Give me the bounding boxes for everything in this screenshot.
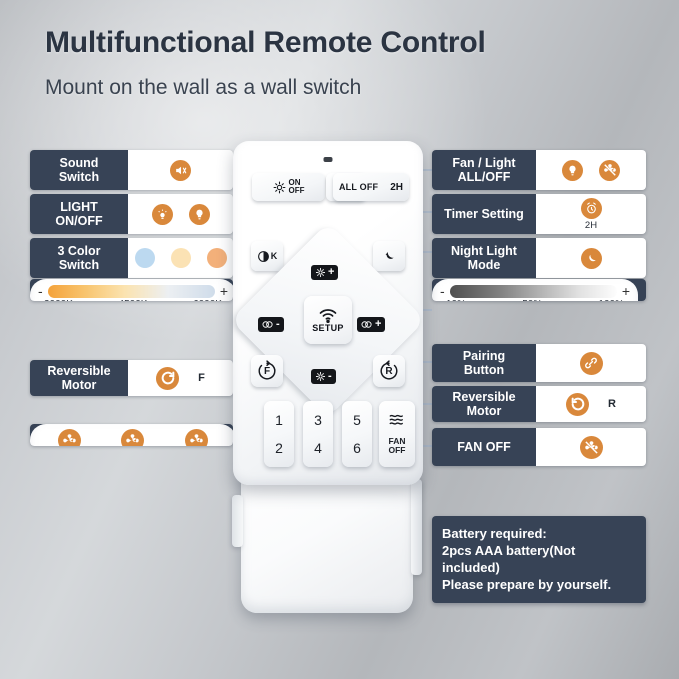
- callout-fan-light-all-off[interactable]: Fan / LightALL/OFF: [432, 150, 646, 190]
- key-color-temp-down[interactable]: -: [258, 317, 284, 332]
- alarm-clock-icon: [581, 198, 602, 219]
- key-glyph: -: [311, 369, 336, 384]
- callout-reversible-motor-forward[interactable]: Reversible Motor F: [30, 360, 233, 396]
- fan-off-icon: [580, 436, 603, 459]
- key-brightness-down[interactable]: -: [311, 369, 336, 384]
- key-label-f: F: [264, 366, 270, 377]
- key-setup[interactable]: SETUP: [304, 296, 352, 344]
- key-label-speed: 1: [275, 412, 283, 428]
- tick-label: 100%: [598, 299, 624, 301]
- callout-reversible-motor-reverse[interactable]: Reversible Motor R: [432, 386, 646, 422]
- plus-sign: +: [220, 284, 228, 298]
- speed-level-low[interactable]: Low: [58, 429, 81, 446]
- tick-label: 3000K: [44, 299, 73, 301]
- key-label-r: R: [385, 366, 392, 377]
- callout-label: LIGHTON/OFF: [30, 194, 128, 234]
- key-label-all-off: ALL OFF: [339, 182, 378, 192]
- callout-label: Fan / LightALL/OFF: [432, 150, 536, 190]
- night-moon-icon: [382, 249, 396, 263]
- key-speed-1-2[interactable]: 1 2: [264, 401, 294, 467]
- key-glyph: ON OFF: [273, 179, 305, 194]
- fan-icon: [121, 429, 144, 446]
- callout-color-temperature[interactable]: Color Temperature Button - + 3000K 4500K…: [30, 279, 233, 301]
- callout-icons: R: [536, 386, 646, 422]
- callout-label: FAN OFF: [432, 428, 536, 466]
- callout-icons: [128, 150, 233, 190]
- fan-icon: [58, 429, 81, 446]
- callout-label: Night LightMode: [432, 238, 536, 278]
- moon-icon: [581, 248, 602, 269]
- bulb-off-icon: [189, 204, 210, 225]
- callout-label: 3 ColorSwitch: [30, 238, 128, 278]
- callout-sound-switch[interactable]: SoundSwitch: [30, 150, 233, 190]
- reverse-rotation-icon: [566, 393, 589, 416]
- infographic-canvas: Multifunctional Remote Control Mount on …: [0, 0, 679, 679]
- callout-icons: [536, 238, 646, 278]
- key-label-setup: SETUP: [312, 323, 344, 333]
- tick-label: 6000K: [193, 299, 222, 301]
- fan-off-icon: [599, 160, 620, 181]
- key-label-speed: 4: [314, 440, 322, 456]
- dimmer-ticks: 10% 50% 100%: [440, 298, 630, 301]
- key-label-plus: +: [328, 267, 334, 278]
- callout-timer-setting[interactable]: Timer Setting 2H: [432, 194, 646, 234]
- tick-label: 10%: [446, 299, 466, 301]
- key-label-speed: 6: [353, 440, 361, 456]
- dimmer-slider[interactable]: - + 10% 50% 100%: [432, 279, 638, 301]
- key-label-minus: -: [276, 319, 280, 330]
- sound-mute-icon: [170, 160, 191, 181]
- callout-label: Reversible Motor: [432, 386, 536, 422]
- ir-emitter-icon: [324, 157, 333, 162]
- remote-control-device: ON OFF ALL OFF 2H K: [233, 141, 423, 613]
- page-title: Multifunctional Remote Control: [45, 26, 486, 60]
- motor-direction-tag: R: [608, 398, 616, 410]
- callout-pairing-button[interactable]: PairingButton: [432, 344, 646, 382]
- callout-color-swatches: [128, 238, 233, 278]
- tick-label: 4500K: [119, 299, 148, 301]
- fan-icon: [185, 429, 208, 446]
- callout-label: SoundSwitch: [30, 150, 128, 190]
- tick-label: 50%: [522, 299, 542, 301]
- callout-icons: 2H: [536, 194, 646, 234]
- key-label-speed: 2: [275, 440, 283, 456]
- color-swatch-neutral: [171, 248, 191, 268]
- callout-icons: [536, 344, 646, 382]
- key-forward-rotation[interactable]: F: [251, 355, 283, 387]
- callout-night-light-mode[interactable]: Night LightMode: [432, 238, 646, 278]
- wave-icon: [388, 413, 406, 425]
- wifi-icon: [318, 308, 338, 323]
- forward-rotation-icon: [156, 367, 179, 390]
- speed-level-med[interactable]: Med: [121, 429, 144, 446]
- color-temp-ticks: 3000K 4500K 6000K: [38, 298, 228, 301]
- key-color-switch[interactable]: K: [251, 241, 283, 271]
- key-speed-3-4[interactable]: 3 4: [303, 401, 333, 467]
- color-temp-slider[interactable]: - + 3000K 4500K 6000K: [30, 279, 233, 301]
- key-label-plus: +: [375, 319, 381, 330]
- callout-fan-off[interactable]: FAN OFF: [432, 428, 646, 466]
- key-speed-5-6[interactable]: 5 6: [342, 401, 372, 467]
- speed-levels: Low Med High: [30, 424, 233, 446]
- bulb-on-icon: [152, 204, 173, 225]
- key-label-off: OFF: [289, 187, 305, 195]
- key-label-k: K: [271, 251, 278, 261]
- callout-3-color-switch[interactable]: 3 ColorSwitch: [30, 238, 233, 278]
- key-glyph: +: [311, 265, 338, 280]
- key-color-temp-up[interactable]: +: [357, 317, 385, 332]
- callout-icons: [536, 428, 646, 466]
- key-label-speed: 3: [314, 412, 322, 428]
- color-swatch-warm: [207, 248, 227, 268]
- key-night-light[interactable]: [373, 241, 405, 271]
- speed-level-high[interactable]: High: [185, 429, 208, 446]
- key-glyph: -: [258, 317, 284, 332]
- bulb-icon: [562, 160, 583, 181]
- key-label-timer-2h: 2H: [390, 182, 403, 193]
- color-swatch-cool: [135, 248, 155, 268]
- dimmer-gradient-bar[interactable]: [450, 285, 617, 298]
- callout-label: Timer Setting: [432, 194, 536, 234]
- link-icon: [580, 352, 603, 375]
- callout-light-onoff[interactable]: LIGHTON/OFF: [30, 194, 233, 234]
- motor-direction-tag: F: [198, 372, 205, 384]
- key-label-minus: -: [328, 371, 332, 382]
- key-label-fan-off: FAN OFF: [389, 437, 406, 455]
- callout-dimmer-button[interactable]: Dimmer Button - + 10% 50% 100%: [432, 279, 646, 301]
- key-glyph: +: [357, 317, 385, 332]
- callout-label: PairingButton: [432, 344, 536, 382]
- key-light-onoff[interactable]: ON OFF: [252, 173, 325, 201]
- key-all-off-timer[interactable]: ALL OFF 2H: [333, 173, 409, 201]
- callout-icons: F: [128, 360, 233, 396]
- remote-body: ON OFF ALL OFF 2H K: [233, 141, 423, 485]
- page-subtitle: Mount on the wall as a wall switch: [45, 76, 361, 100]
- color-temp-gradient-bar[interactable]: [48, 285, 215, 298]
- key-fan-off[interactable]: FAN OFF: [379, 401, 415, 467]
- key-brightness-up[interactable]: +: [311, 265, 338, 280]
- minus-sign: -: [38, 284, 43, 298]
- plus-sign: +: [622, 284, 630, 298]
- callout-6-speed-button[interactable]: 6 Speed Button Low Med: [30, 424, 233, 446]
- callout-icons: [536, 150, 646, 190]
- half-moon-contrast-icon: [257, 250, 270, 263]
- key-reverse-rotation[interactable]: R: [373, 355, 405, 387]
- minus-sign: -: [440, 284, 445, 298]
- timer-duration-label: 2H: [585, 220, 597, 231]
- battery-note: Battery required:2pcs AAA battery(Not in…: [432, 516, 646, 603]
- key-label-speed: 5: [353, 412, 361, 428]
- callout-label: Reversible Motor: [30, 360, 128, 396]
- callout-icons: [128, 194, 233, 234]
